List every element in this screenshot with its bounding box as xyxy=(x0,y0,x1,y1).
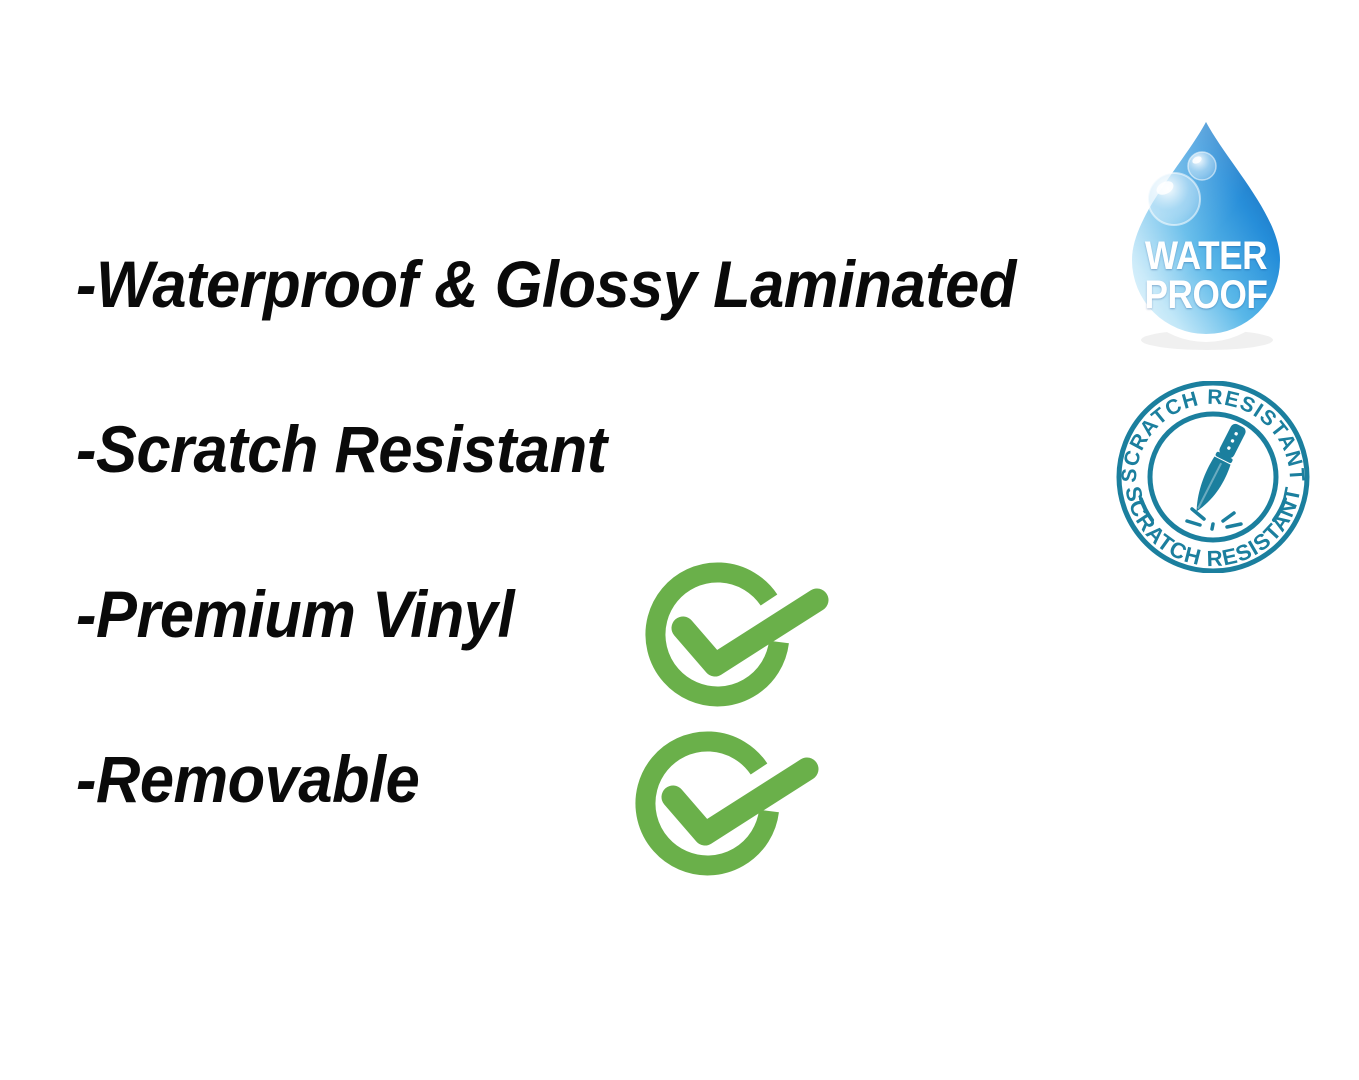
scratch-resistant-badge: SCRATCH RESISTANT SCRATCH RESISTANT xyxy=(1114,381,1312,573)
water-drop-icon xyxy=(1104,108,1308,356)
feature-row-removable: -Removable xyxy=(76,743,1086,908)
feature-list: -Waterproof & Glossy Laminated -Scratch … xyxy=(76,248,1086,908)
knife-icon xyxy=(1188,421,1249,516)
feature-label-removable: -Removable xyxy=(76,743,419,815)
feature-row-waterproof: -Waterproof & Glossy Laminated xyxy=(76,248,1086,413)
check-circle-icon xyxy=(641,556,837,708)
impact-lines-icon xyxy=(1187,509,1241,529)
scratch-resistant-stamp-icon: SCRATCH RESISTANT SCRATCH RESISTANT xyxy=(1114,381,1312,573)
waterproof-badge: WATER PROOF xyxy=(1104,108,1308,356)
bubble-small-icon xyxy=(1188,152,1216,180)
feature-label-waterproof: -Waterproof & Glossy Laminated xyxy=(76,248,1016,320)
feature-label-premium-vinyl: -Premium Vinyl xyxy=(76,578,514,650)
bubble-large-icon xyxy=(1148,173,1200,225)
feature-row-premium-vinyl: -Premium Vinyl xyxy=(76,578,1086,743)
feature-row-scratch-resistant: -Scratch Resistant xyxy=(76,413,1086,578)
feature-label-scratch-resistant: -Scratch Resistant xyxy=(76,413,607,485)
feature-panel: -Waterproof & Glossy Laminated -Scratch … xyxy=(0,0,1359,1080)
check-circle-icon xyxy=(631,721,827,879)
